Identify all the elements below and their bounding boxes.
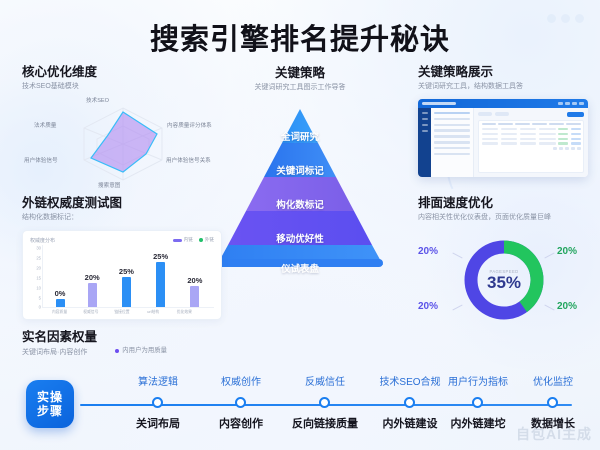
- donut-center-value: 35%: [487, 274, 521, 291]
- bar-value-1: 20%: [85, 273, 100, 282]
- mock-pagination[interactable]: [482, 147, 581, 150]
- y-tick-4: 10: [36, 285, 41, 290]
- mock-main-panel: [474, 108, 588, 177]
- mock-nav-list: [431, 108, 474, 177]
- step-top-label-0: 算法逻辑: [138, 373, 178, 388]
- bar-value-0: 0%: [55, 289, 66, 298]
- pyramid-subtitle: 关键词研究工具图示工作导答: [205, 84, 395, 93]
- bar-column: 25%: [153, 245, 168, 307]
- mock-table-row: [482, 142, 581, 144]
- bar-column: 20%: [85, 245, 100, 307]
- dashboard-heading: 关键策略展示: [418, 65, 588, 80]
- core-subtitle: 技术SEO基础模块: [22, 83, 222, 92]
- mock-titlebar: [418, 99, 588, 108]
- step-node-5[interactable]: [547, 397, 558, 408]
- bar-rect-4: [190, 286, 199, 307]
- bar-rect-3: [156, 262, 165, 307]
- mock-table: [478, 120, 584, 173]
- bar-chart-x-axis: 内容质量 权威信号 链接位置 url结构 优化效果: [30, 308, 214, 315]
- step-node-3[interactable]: [404, 397, 415, 408]
- steps-badge-line1: 实操: [37, 390, 63, 404]
- step-bottom-label-3: 内外链建设: [383, 415, 438, 431]
- pyramid-svg: [205, 101, 395, 276]
- radar-axis-label-4: 用户体验信号: [24, 156, 58, 164]
- radar-chart-svg: [58, 98, 188, 190]
- steps-badge-line2: 步骤: [37, 404, 63, 418]
- donut-chart: PAGESPEED 35% 20% 20% 20% 20%: [418, 229, 590, 339]
- radar-axis-label-0: 技术SEO: [86, 96, 109, 104]
- legend-dot-icon: [199, 238, 203, 242]
- steps-header: 实名因素权量 关键词布局·内容创作 内用户为用质量: [22, 330, 578, 358]
- bar-chart-card: 权威度分布 内链 外链 30 25 20 15: [22, 230, 222, 320]
- bar-value-4: 20%: [187, 276, 202, 285]
- page-title: 搜索引擎排名提升秘诀: [0, 16, 600, 58]
- dashboard-subtitle: 关键词研究工具，结构数据工具答: [418, 83, 588, 92]
- step-bottom-label-4: 内外链建坨: [451, 415, 506, 431]
- step-top-label-2: 反威信任: [305, 373, 345, 388]
- mock-table-header: [482, 123, 581, 125]
- legend-label-0: 内链: [184, 237, 193, 243]
- core-heading: 核心优化维度: [22, 65, 222, 80]
- y-tick-5: 5: [39, 295, 41, 300]
- step-node-0[interactable]: [152, 397, 163, 408]
- step-top-label-3: 技术SEO合规: [379, 373, 440, 388]
- steps-timeline: 实操 步骤 算法逻辑 关词布局 权威创作 内容创作 反威信任 反向链接质量 技术…: [22, 371, 578, 439]
- section-core-dimensions: 核心优化维度 技术SEO基础模块 技术SEO 内容质量评分体系 用户体验信号关系: [22, 65, 222, 191]
- pyramid-heading: 关键策略: [205, 66, 395, 81]
- bar-rect-0: [56, 299, 65, 307]
- mock-sidebar-rail: [418, 108, 431, 177]
- step-bottom-label-0: 关词布局: [136, 415, 180, 431]
- x-tick-4: 优化效果: [171, 310, 197, 315]
- step-top-label-1: 权威创作: [221, 373, 261, 388]
- section-practical-steps: 实名因素权量 关键词布局·内容创作 内用户为用质量 实操 步骤 算法逻辑 关词布…: [22, 330, 578, 439]
- step-node-4[interactable]: [472, 397, 483, 408]
- steps-legend-dot-icon: [115, 349, 119, 353]
- donut-label-3: 20%: [418, 301, 438, 312]
- steps-badge: 实操 步骤: [26, 380, 74, 428]
- legend-item-0: 内链: [173, 237, 193, 243]
- donut-subtitle: 内容相关性优化仪表盘，页面优化质量巨峰: [418, 214, 590, 223]
- step-bottom-label-1: 内容创作: [219, 415, 263, 431]
- donut-label-0: 20%: [557, 246, 577, 257]
- bar-chart-plot: 30 25 20 15 10 5 0 0% 20%: [30, 246, 214, 308]
- step-bottom-label-2: 反向链接质量: [292, 415, 358, 431]
- pyramid-level-3: 移动优好性: [205, 231, 395, 245]
- y-tick-3: 15: [36, 275, 41, 280]
- infographic-poster: 搜索引擎排名提升秘诀 核心优化维度 技术SEO基础模块 技术SEO 内容质量: [0, 0, 600, 450]
- radar-chart: 技术SEO 内容质量评分体系 用户体验信号关系 搜索意图 用户体验信号 法术质量: [22, 96, 222, 191]
- mock-toolbar: [478, 112, 584, 117]
- x-tick-0: 内容质量: [47, 310, 73, 315]
- step-top-label-5: 优化监控: [533, 373, 573, 388]
- mock-table-row: [482, 128, 581, 130]
- bar-chart-title: 权威度分布: [30, 237, 55, 244]
- pyramid-level-1: 关键词标记: [205, 163, 395, 177]
- watermark: 自包AI主成: [516, 424, 592, 444]
- y-tick-0: 30: [36, 245, 41, 250]
- steps-subtitle-row: 关键词布局·内容创作 内用户为用质量: [22, 347, 578, 358]
- x-tick-2: 链接位置: [109, 310, 135, 315]
- mock-table-row: [482, 133, 581, 135]
- bar-chart-legend: 内链 外链: [173, 237, 214, 243]
- bar-value-3: 25%: [153, 252, 168, 261]
- section-speed-optimization: 排面速度优化 内容相关性优化仪表盘，页面优化质量巨峰 PAGESPEED 35%…: [418, 196, 590, 339]
- bar-rect-1: [88, 283, 97, 307]
- steps-heading: 实名因素权量: [22, 330, 578, 345]
- pyramid-chart: 全词研究 关键词标记 构化数标记 移动优好性 仪试表盘: [205, 101, 395, 286]
- bar-rect-2: [122, 277, 131, 307]
- radar-axis-label-3: 搜索意图: [98, 181, 120, 189]
- radar-axis-label-5: 法术质量: [34, 121, 56, 129]
- legend-label-1: 外链: [205, 237, 214, 243]
- steps-legend: 内用户为用质量: [115, 347, 167, 355]
- bars-heading: 外链权威度测试图: [22, 196, 222, 211]
- step-node-2[interactable]: [319, 397, 330, 408]
- y-tick-1: 25: [36, 255, 41, 260]
- step-node-1[interactable]: [235, 397, 246, 408]
- pyramid-level-2: 构化数标记: [205, 197, 395, 211]
- bar-value-2: 25%: [119, 267, 134, 276]
- mock-body: [418, 108, 588, 177]
- donut-label-2: 20%: [418, 246, 438, 257]
- y-tick-2: 20: [36, 265, 41, 270]
- x-tick-1: 权威信号: [78, 310, 104, 315]
- dashboard-screenshot-mock[interactable]: [418, 99, 588, 177]
- pyramid-level-4: 仪试表盘: [205, 261, 395, 275]
- donut-heading: 排面速度优化: [418, 196, 590, 211]
- x-tick-3: url结构: [140, 310, 166, 315]
- legend-item-1: 外链: [199, 237, 214, 243]
- pyramid-level-0: 全词研究: [205, 129, 395, 143]
- step-top-label-4: 用户行为指标: [448, 373, 508, 388]
- bar-column: 20%: [187, 245, 202, 307]
- donut-center: PAGESPEED 35%: [459, 235, 549, 325]
- section-key-strategy: 关键策略 关键词研究工具图示工作导答: [205, 66, 395, 286]
- section-backlink-authority: 外链权威度测试图 结构化数据标记： 权威度分布 内链 外链: [22, 196, 222, 320]
- bar-column: 0%: [55, 245, 66, 307]
- y-tick-6: 0: [39, 304, 41, 309]
- donut-label-1: 20%: [557, 301, 577, 312]
- mock-table-row: [482, 138, 581, 140]
- bar-chart-columns: 0% 20% 25% 25%: [42, 245, 214, 308]
- section-strategy-showcase: 关键策略展示 关键词研究工具，结构数据工具答: [418, 65, 588, 177]
- steps-subtitle: 关键词布局·内容创作: [22, 349, 87, 356]
- legend-swatch-icon: [173, 239, 182, 242]
- bars-subtitle: 结构化数据标记：: [22, 214, 222, 223]
- bar-chart-y-axis: 30 25 20 15 10 5 0: [30, 246, 42, 308]
- steps-legend-label: 内用户为用质量: [122, 347, 167, 355]
- bar-chart-header: 权威度分布 内链 外链: [30, 237, 214, 244]
- bar-column: 25%: [119, 245, 134, 307]
